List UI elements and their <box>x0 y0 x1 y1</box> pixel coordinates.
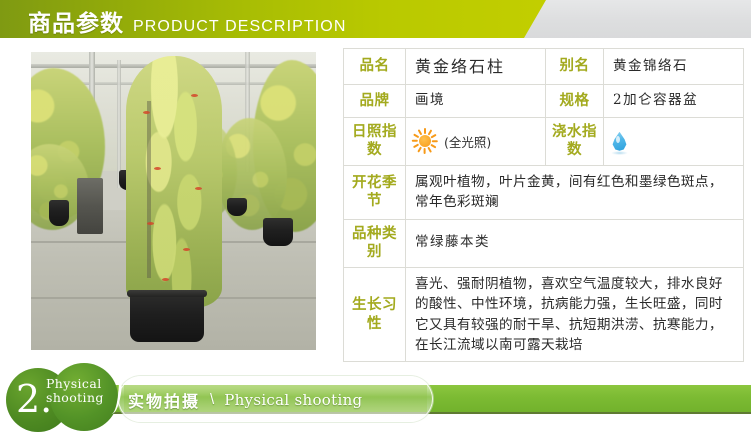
spec-label-flowering-season: 开花季节 <box>344 169 405 216</box>
section-banner-physical-shooting: 实物拍摄 \ Physical shooting 2. Physical sho… <box>0 372 751 439</box>
photo-scene <box>31 52 316 350</box>
page-title-en: PRODUCT DESCRIPTION <box>133 18 347 36</box>
table-row: 开花季节 属观叶植物，叶片金黄，间有红色和墨绿色斑点，常年色彩斑斓 <box>344 165 744 219</box>
spec-value-specification: 2加仑容器盆 <box>604 85 743 117</box>
sun-icon <box>412 128 438 154</box>
banner-step-label-line2: shooting <box>46 391 104 405</box>
page-title-cn: 商品参数 <box>28 4 124 38</box>
table-row: 日照指数 <box>344 117 744 165</box>
spec-value-variety-type: 常绿藤本类 <box>406 227 743 259</box>
sunlight-note: (全光照) <box>444 132 491 151</box>
product-description-page: 商品参数 PRODUCT DESCRIPTION <box>0 0 751 439</box>
banner-step-label-line1: Physical <box>46 377 104 391</box>
product-photo <box>31 52 316 350</box>
background-pot <box>227 198 247 216</box>
table-row: 品名 黄金络石柱 别名 黄金锦络石 <box>344 49 744 85</box>
background-pot <box>263 218 293 246</box>
banner-title-en: Physical shooting <box>224 391 362 409</box>
main-plant <box>126 56 222 308</box>
banner-separator: \ <box>210 391 214 408</box>
spec-value-product-name: 黄金络石柱 <box>406 49 545 84</box>
page-title: 商品参数 PRODUCT DESCRIPTION <box>28 4 347 38</box>
header-underline <box>0 38 751 44</box>
spec-table: 品名 黄金络石柱 别名 黄金锦络石 品牌 画境 规格 2加仑容器盆 日照指数 <box>343 48 744 362</box>
banner-step-label: Physical shooting <box>46 377 104 406</box>
spec-label-watering-index: 浇水指数 <box>546 118 603 165</box>
spec-value-flowering-season: 属观叶植物，叶片金黄，间有红色和墨绿色斑点，常年色彩斑斓 <box>406 166 743 219</box>
background-pot <box>77 178 103 234</box>
spec-label-brand: 品牌 <box>344 87 405 116</box>
main-plant-pot <box>130 290 204 342</box>
background-pot <box>49 200 69 226</box>
spec-value-alias: 黄金锦络石 <box>604 51 743 83</box>
spec-label-product-name: 品名 <box>344 52 405 81</box>
spec-label-variety-type: 品种类别 <box>344 220 405 267</box>
table-row: 品牌 画境 规格 2加仑容器盆 <box>344 85 744 118</box>
spec-label-sunlight-index: 日照指数 <box>344 118 405 165</box>
greenhouse-post <box>117 60 121 188</box>
spec-label-alias: 别名 <box>546 52 603 81</box>
spec-label-growth-habit: 生长习性 <box>344 291 405 338</box>
spec-label-specification: 规格 <box>546 87 603 116</box>
spec-value-watering-index <box>604 132 743 151</box>
banner-title-cn: 实物拍摄 <box>128 388 200 412</box>
table-row: 生长习性 喜光、强耐阴植物，喜欢空气温度较大，排水良好的酸性、中性环境，抗病能力… <box>344 267 744 362</box>
table-row: 品种类别 常绿藤本类 <box>344 219 744 267</box>
spec-value-sunlight-index: (全光照) <box>406 128 545 154</box>
spec-value-brand: 画境 <box>406 85 545 117</box>
spec-value-growth-habit: 喜光、强耐阴植物，喜欢空气温度较大，排水良好的酸性、中性环境，抗病能力强，生长旺… <box>406 268 743 362</box>
banner-title: 实物拍摄 \ Physical shooting <box>128 386 362 413</box>
